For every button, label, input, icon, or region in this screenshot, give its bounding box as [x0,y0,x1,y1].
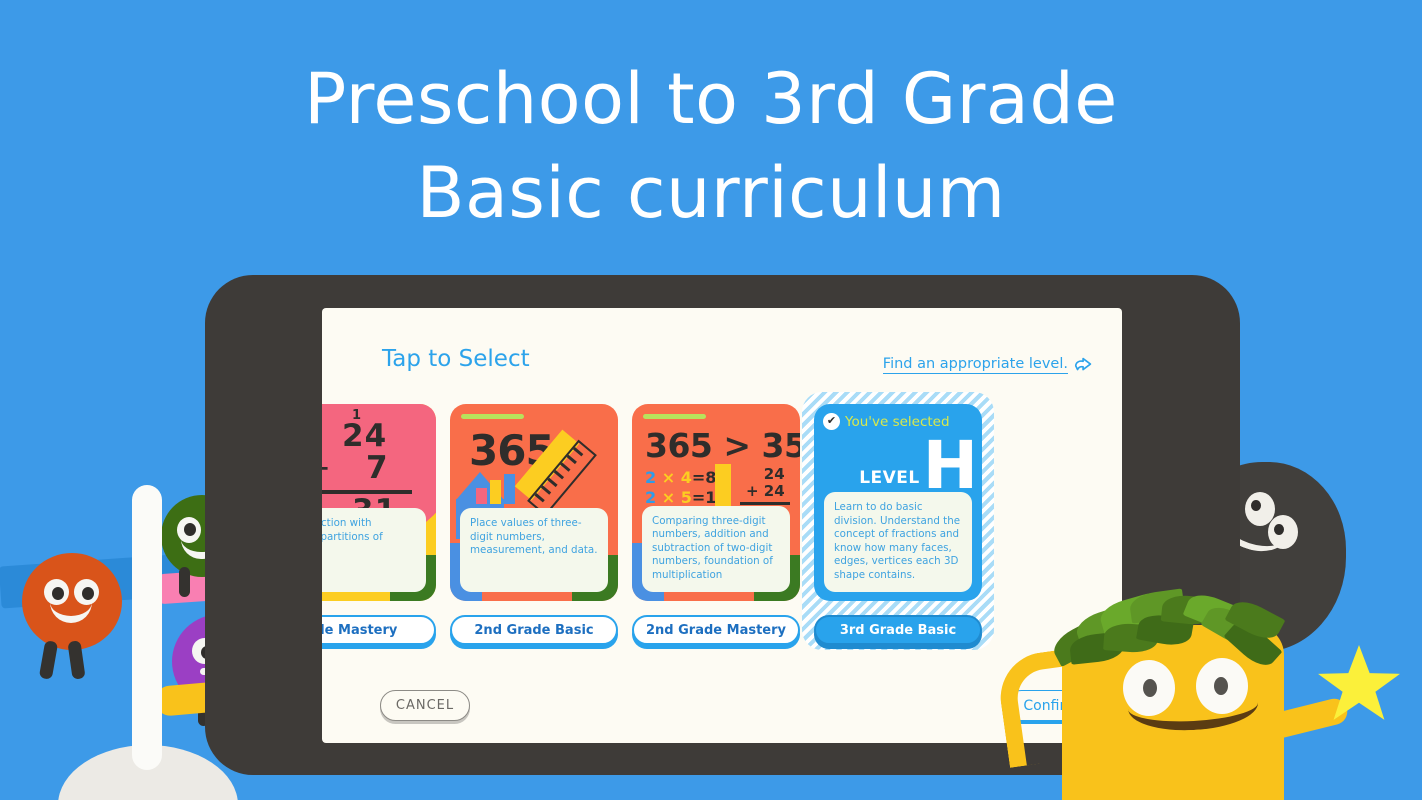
find-level-label: Find an appropriate level. [883,356,1068,374]
comparison-expression: 365 > 356 [645,426,800,465]
card-face-1[interactable]: 1 24 + 7 31 subtraction with g and parti… [322,404,436,601]
level-card-2[interactable]: 365 [450,404,618,645]
grade-button-1[interactable]: ade Mastery [322,615,436,645]
promo-screenshot: Preschool to 3rd Grade Basic curriculum [0,0,1422,800]
grade-button-3[interactable]: 2nd Grade Mastery [632,615,800,645]
check-icon: ✔ [823,413,840,430]
orange-round-character [22,553,122,650]
card-face-4[interactable]: ✔ You've selected LEVEL H Learn to do ba… [814,404,982,601]
card-description-3: Comparing three-digit numbers, addition … [642,506,790,593]
addend-bottom: 7 [366,450,388,486]
dark-character-eye-right [1268,515,1298,549]
level-card-list: 1 24 + 7 31 subtraction with g and parti… [322,404,1122,654]
level-card-3[interactable]: 365 > 356 2 × 4=8 2 × 5=10 24 + 24 [632,404,800,645]
find-level-link[interactable]: Find an appropriate level. [883,354,1095,376]
plus-sign: + [322,454,330,482]
card-description-2: Place values of three-digit numbers, mea… [460,508,608,592]
screen-title: Tap to Select [382,346,530,372]
card-description-4: Learn to do basic division. Understand t… [824,492,972,592]
tablet-screen: Tap to Select Find an appropriate level. [322,308,1122,743]
card-description-1: subtraction with g and partitions of [322,508,426,592]
grade-button-4[interactable]: 3rd Grade Basic [814,615,982,645]
level-letter: H [923,438,978,494]
addend-top: 24 [342,418,387,454]
grade-button-2[interactable]: 2nd Grade Basic [450,615,618,645]
card-face-3[interactable]: 365 > 356 2 × 4=8 2 × 5=10 24 + 24 [632,404,800,601]
level-display: LEVEL H [859,438,978,494]
level-word: LEVEL [859,468,920,494]
cancel-button[interactable]: CANCEL [380,690,470,721]
level-card-1[interactable]: 1 24 + 7 31 subtraction with g and parti… [322,404,436,645]
page-title: Preschool to 3rd Grade Basic curriculum [0,52,1422,240]
arrow-right-hand-icon [1073,354,1095,376]
level-card-4-selected[interactable]: ✔ You've selected LEVEL H Learn to do ba… [814,404,982,645]
white-stick-decor [132,485,162,770]
card-face-2[interactable]: 365 [450,404,618,601]
mini-addition: 24 + 24 [746,466,785,500]
